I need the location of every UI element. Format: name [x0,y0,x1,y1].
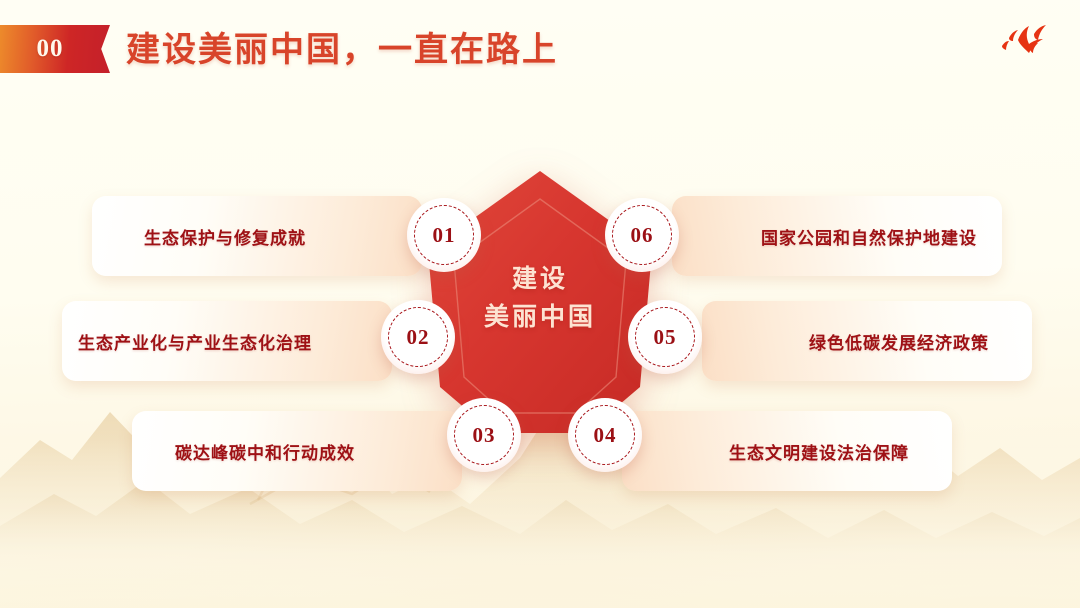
item-number-01: 01 [433,223,456,248]
item-card-02[interactable]: 生态产业化与产业生态化治理 [62,301,392,381]
item-label-06: 国家公园和自然保护地建设 [672,224,1002,249]
item-bubble-04[interactable]: 04 [568,398,642,472]
section-number-badge: 00 [0,25,110,73]
item-number-05: 05 [654,325,677,350]
item-label-02: 生态产业化与产业生态化治理 [62,329,392,354]
page-title: 建设美丽中国，一直在路上 [126,22,558,71]
item-bubble-05[interactable]: 05 [628,300,702,374]
item-label-03: 碳达峰碳中和行动成效 [132,439,462,464]
item-card-05[interactable]: 绿色低碳发展经济政策 [702,301,1032,381]
slide-header: 00 建设美丽中国，一直在路上 [0,0,1080,100]
item-card-06[interactable]: 国家公园和自然保护地建设 [672,196,1002,276]
item-label-04: 生态文明建设法治保障 [622,439,952,464]
item-card-04[interactable]: 生态文明建设法治保障 [622,411,952,491]
item-bubble-06[interactable]: 06 [605,198,679,272]
flying-birds-icon [988,18,1060,66]
item-card-01[interactable]: 生态保护与修复成就 [92,196,422,276]
section-number: 00 [0,25,100,73]
item-bubble-02[interactable]: 02 [381,300,455,374]
item-bubble-03[interactable]: 03 [447,398,521,472]
item-number-02: 02 [407,325,430,350]
item-label-01: 生态保护与修复成就 [92,224,422,249]
item-bubble-01[interactable]: 01 [407,198,481,272]
item-number-03: 03 [473,423,496,448]
item-label-05: 绿色低碳发展经济政策 [702,329,1032,354]
slide-canvas: 00 建设美丽中国，一直在路上 [0,0,1080,608]
item-number-04: 04 [594,423,617,448]
item-number-06: 06 [631,223,654,248]
item-card-03[interactable]: 碳达峰碳中和行动成效 [132,411,462,491]
